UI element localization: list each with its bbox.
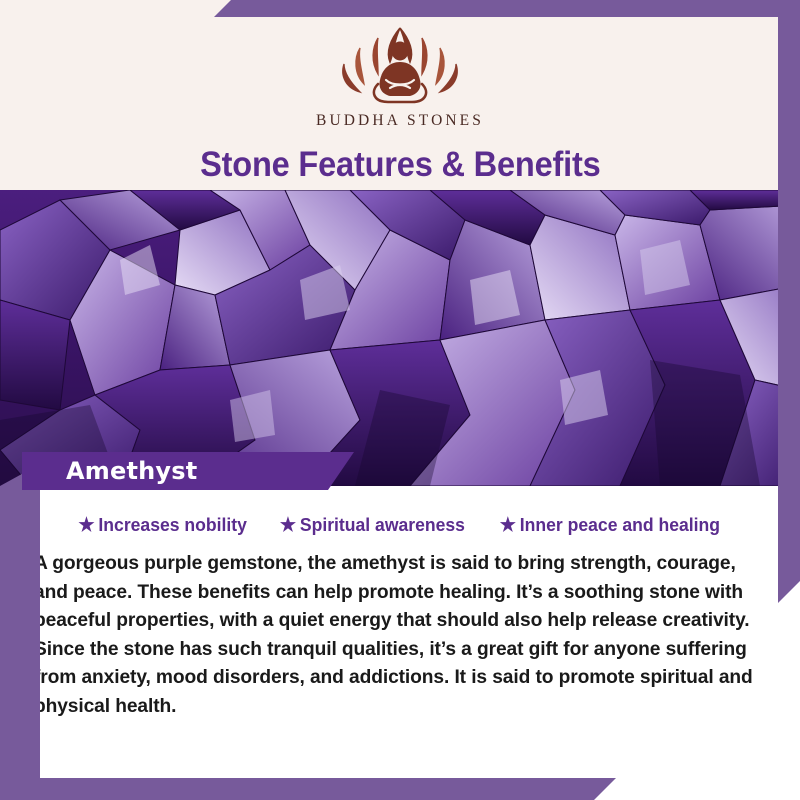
stone-name-label: Amethyst — [66, 457, 197, 485]
brand-logo: BUDDHA STONES — [0, 18, 800, 130]
hero-image — [0, 190, 800, 486]
stone-description: A gorgeous purple gemstone, the amethyst… — [34, 550, 766, 721]
frame-top-bar — [214, 0, 800, 17]
infographic-page: BUDDHA STONES Stone Features & Benefits — [0, 0, 800, 800]
feature-label: Increases nobility — [98, 514, 246, 536]
frame-left-bar — [0, 464, 40, 778]
page-title: Stone Features & Benefits — [200, 144, 601, 186]
page-title-bar: Stone Features & Benefits — [0, 144, 800, 186]
feature-list: ★ Increases nobility ★ Spiritual awarene… — [0, 490, 800, 536]
lotus-meditation-icon — [316, 18, 484, 110]
feature-item: ★ Increases nobility — [78, 514, 246, 536]
amethyst-crystal-cluster-photo — [0, 190, 800, 486]
stone-name-banner: Amethyst — [22, 452, 354, 490]
star-icon: ★ — [78, 516, 94, 535]
content-section: ★ Increases nobility ★ Spiritual awarene… — [0, 490, 800, 800]
header-section: BUDDHA STONES Stone Features & Benefits — [0, 0, 800, 190]
frame-bottom-bar — [0, 778, 616, 800]
frame-right-bar — [778, 17, 800, 603]
brand-name: BUDDHA STONES — [316, 112, 484, 130]
feature-label: Spiritual awareness — [300, 514, 465, 536]
feature-item: ★ Inner peace and healing — [500, 514, 720, 536]
feature-item: ★ Spiritual awareness — [280, 514, 465, 536]
star-icon: ★ — [500, 516, 516, 535]
feature-label: Inner peace and healing — [520, 514, 720, 536]
star-icon: ★ — [280, 516, 296, 535]
